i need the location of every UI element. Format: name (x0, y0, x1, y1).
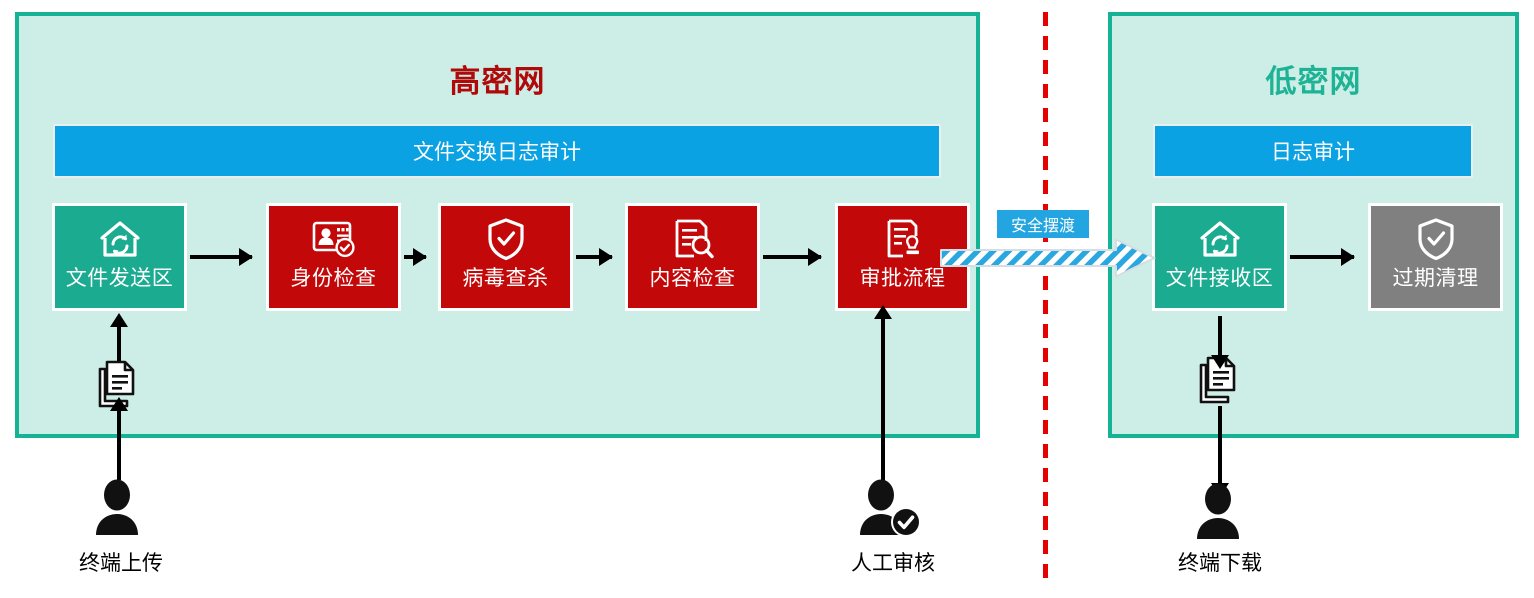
person-check-icon (850, 478, 928, 545)
arrow-upload-user-to-docs (117, 410, 121, 480)
low-zone-audit-bar[interactable]: 日志审计 (1153, 124, 1473, 178)
arrow-send-to-identity (190, 255, 252, 259)
low-zone-audit-label: 日志审计 (1271, 136, 1355, 166)
document-search-icon (670, 215, 716, 262)
house-sync-icon (97, 215, 143, 262)
step-expiry-cleanup[interactable]: 过期清理 (1368, 203, 1503, 311)
step-label: 身份检查 (291, 268, 377, 289)
actor-label-review: 人工审核 (838, 547, 948, 577)
ferry-badge[interactable]: 安全摆渡 (997, 210, 1089, 238)
person-icon (1187, 482, 1249, 547)
step-identity-check[interactable]: 身份检查 (266, 203, 401, 311)
shield-check-icon (1415, 215, 1457, 262)
step-label: 内容检查 (650, 268, 736, 289)
arrow-receive-to-expire (1290, 255, 1354, 259)
striped-right-arrow-icon (940, 238, 1156, 278)
arrow-identity-to-virus (404, 255, 426, 259)
document-stamp-icon (881, 215, 925, 262)
arrow-virus-to-content (576, 255, 612, 259)
red-dashed-boundary-icon (1043, 12, 1048, 584)
id-card-check-icon (310, 215, 358, 262)
step-label: 过期清理 (1393, 268, 1479, 289)
step-file-receive-area[interactable]: 文件接收区 (1152, 203, 1287, 311)
actor-label-upload: 终端上传 (66, 547, 176, 577)
actor-label-download: 终端下载 (1165, 547, 1275, 577)
diagram-canvas: 高密网 文件交换日志审计 文件发送区 (0, 0, 1534, 598)
arrow-docs-to-download-user (1218, 406, 1222, 484)
arrow-content-to-approval (763, 255, 821, 259)
high-zone-title: 高密网 (19, 56, 976, 101)
house-sync-icon (1197, 215, 1243, 262)
arrow-docs-to-send-area (117, 326, 121, 361)
person-icon (86, 478, 148, 543)
high-zone-audit-label: 文件交换日志审计 (413, 136, 581, 166)
low-zone-title: 低密网 (1112, 56, 1515, 101)
step-label: 文件发送区 (66, 268, 174, 289)
high-zone-audit-bar[interactable]: 文件交换日志审计 (53, 124, 941, 178)
step-label: 病毒查杀 (463, 268, 549, 289)
ferry-badge-label: 安全摆渡 (1011, 212, 1075, 236)
arrow-receive-area-to-docs (1218, 316, 1222, 356)
step-file-send-area[interactable]: 文件发送区 (52, 203, 187, 311)
step-label: 审批流程 (860, 268, 946, 289)
shield-check-icon (485, 215, 527, 262)
step-virus-scan[interactable]: 病毒查杀 (438, 203, 573, 311)
step-content-inspection: 内容检查 (625, 203, 760, 311)
arrow-reviewer-to-approval (881, 318, 885, 483)
step-label: 文件接收区 (1166, 268, 1274, 289)
